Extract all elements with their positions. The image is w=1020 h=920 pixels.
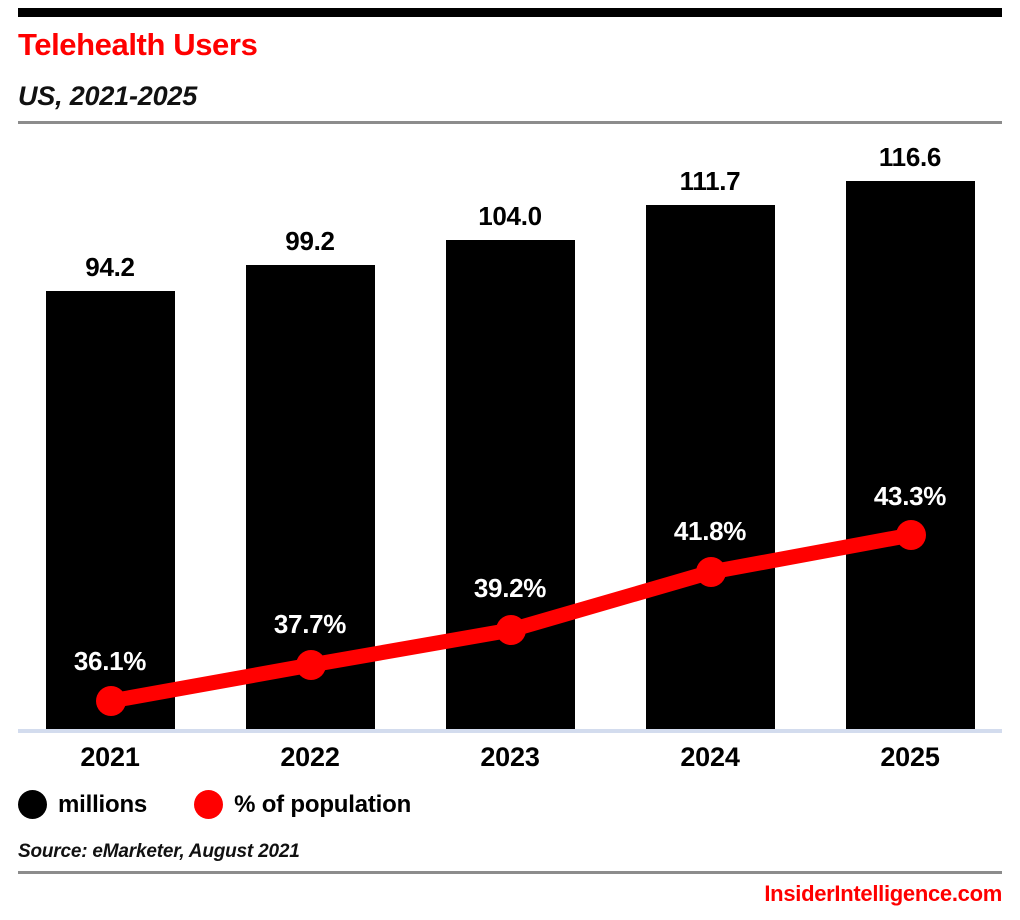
percent-value-2024: 41.8% — [674, 516, 746, 547]
percent-marker-2022 — [296, 650, 326, 680]
x-axis-line — [18, 729, 1002, 733]
brand-watermark: InsiderIntelligence.com — [764, 881, 1002, 907]
circle-red-icon — [194, 790, 223, 819]
legend-item-percent-of-population: % of population — [194, 790, 411, 819]
bar-2021 — [46, 291, 175, 729]
percent-value-2025: 43.3% — [874, 481, 946, 512]
x-tick-2025: 2025 — [880, 742, 939, 773]
percent-marker-2023 — [496, 615, 526, 645]
percent-value-2022: 37.7% — [274, 609, 346, 640]
bar-value-2024: 111.7 — [680, 166, 741, 197]
x-tick-2023: 2023 — [480, 742, 539, 773]
percent-value-2021: 36.1% — [74, 646, 146, 677]
header-divider — [18, 121, 1002, 124]
bar-2024 — [646, 205, 775, 729]
bar-value-2022: 99.2 — [285, 226, 334, 257]
x-tick-2021: 2021 — [80, 742, 139, 773]
page-title: Telehealth Users — [18, 27, 257, 63]
bar-value-2021: 94.2 — [85, 252, 134, 283]
bar-value-2025: 116.6 — [879, 142, 941, 173]
chart-legend: millions % of population — [18, 790, 411, 819]
source-note: Source: eMarketer, August 2021 — [18, 841, 300, 863]
legend-label-percent-of-population: % of population — [234, 791, 411, 819]
bar-2023 — [446, 240, 575, 729]
top-rule — [18, 8, 1002, 17]
circle-black-icon — [18, 790, 47, 819]
percent-marker-2024 — [696, 557, 726, 587]
chart-page: Telehealth Users US, 2021-2025 94.2 99.2… — [0, 0, 1020, 920]
percent-line-series — [0, 0, 1020, 920]
x-tick-2024: 2024 — [680, 742, 739, 773]
bar-2022 — [246, 265, 375, 729]
legend-label-millions: millions — [58, 791, 147, 819]
percent-line-path — [111, 535, 911, 701]
x-tick-2022: 2022 — [280, 742, 339, 773]
plot-area: 94.2 99.2 104.0 111.7 116.6 36.1% 37.7% … — [0, 0, 1020, 920]
legend-item-millions: millions — [18, 790, 147, 819]
percent-marker-2021 — [96, 686, 126, 716]
chart-subtitle: US, 2021-2025 — [18, 80, 197, 112]
bar-value-2023: 104.0 — [478, 201, 542, 232]
percent-marker-2025 — [896, 520, 926, 550]
percent-value-2023: 39.2% — [474, 573, 546, 604]
bar-2025 — [846, 181, 975, 729]
footer-divider — [18, 871, 1002, 874]
